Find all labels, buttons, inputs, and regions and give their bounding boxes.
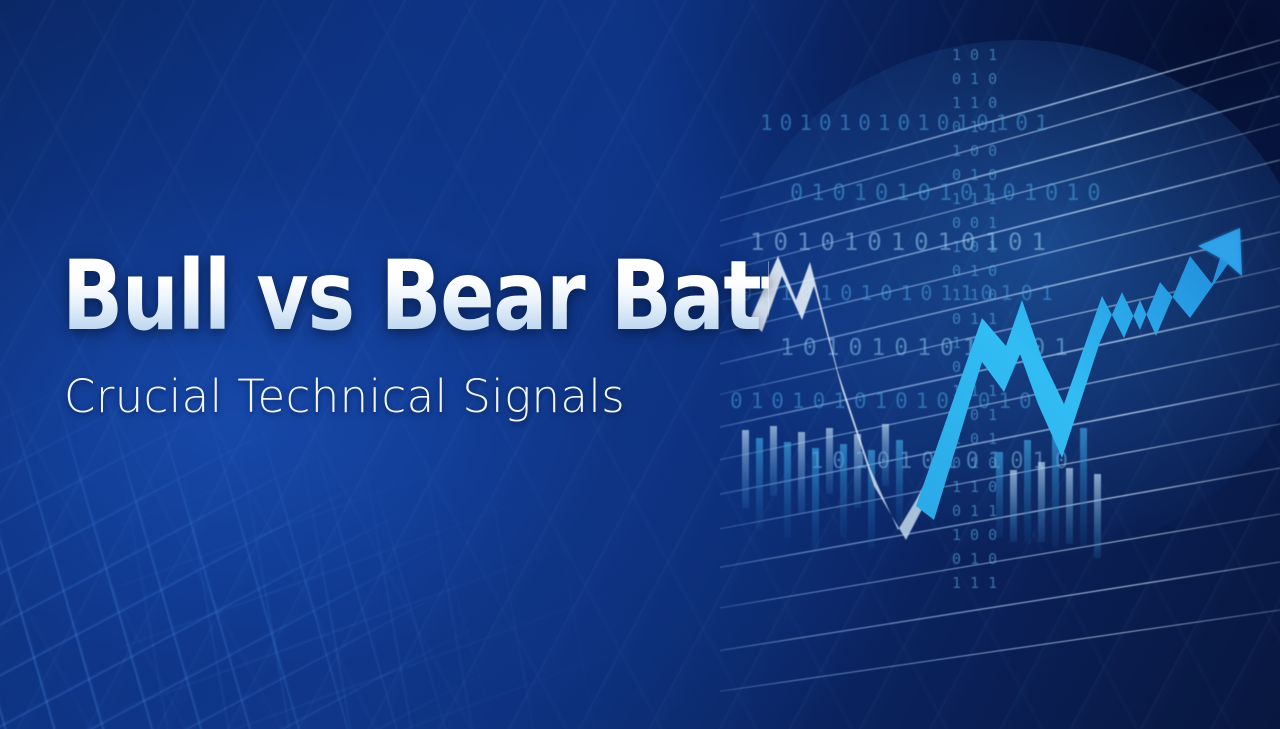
banner-root: 101010101010101 010101010101010 10101010… — [0, 0, 1280, 729]
svg-text:1 0 0: 1 0 0 — [952, 526, 997, 544]
svg-text:1 0 1: 1 0 1 — [952, 46, 997, 64]
page-title: Bull vs Bear Battle — [62, 248, 769, 344]
svg-text:0 1 1: 0 1 1 — [952, 310, 997, 328]
svg-text:0 0 1: 0 0 1 — [952, 406, 997, 424]
svg-text:1 0 0: 1 0 0 — [952, 142, 997, 160]
svg-text:0 0 1: 0 0 1 — [952, 214, 997, 232]
svg-text:0 1 0: 0 1 0 — [952, 454, 997, 472]
svg-text:1 1 0: 1 1 0 — [952, 94, 997, 112]
trend-up-arrow-icon — [916, 228, 1242, 520]
binary-column-icon: 1 0 10 1 0 1 1 00 1 1 1 0 00 1 0 1 1 10 … — [952, 46, 997, 592]
svg-text:1 0 0: 1 0 0 — [952, 334, 997, 352]
headline-block: Bull vs Bear Battle Crucial Technical Si… — [62, 248, 822, 423]
page-subtitle: Crucial Technical Signals — [64, 370, 822, 423]
svg-text:0 1 0: 0 1 0 — [952, 358, 997, 376]
svg-text:0 1 0: 0 1 0 — [952, 166, 997, 184]
svg-text:0 1 1: 0 1 1 — [952, 502, 997, 520]
svg-text:0 1 0: 0 1 0 — [952, 262, 997, 280]
svg-text:1 1 0: 1 1 0 — [952, 286, 997, 304]
svg-text:1 0 1: 1 0 1 — [952, 430, 997, 448]
svg-text:1 1 1: 1 1 1 — [952, 190, 997, 208]
svg-text:0 1 0: 0 1 0 — [952, 550, 997, 568]
svg-text:1 1 1: 1 1 1 — [952, 574, 997, 592]
svg-text:1 0 1: 1 0 1 — [952, 238, 997, 256]
svg-text:0 1 1: 0 1 1 — [952, 118, 997, 136]
svg-text:101010101010101: 101010101010101 — [760, 111, 1055, 135]
perspective-grid-secondary-icon — [120, 430, 740, 729]
svg-text:0 1 0: 0 1 0 — [952, 70, 997, 88]
svg-text:1 1 1: 1 1 1 — [952, 382, 997, 400]
svg-text:010101010101010: 010101010101010 — [790, 181, 1109, 206]
svg-text:101010101010: 101010101010 — [810, 449, 1077, 474]
svg-text:1 1 0: 1 1 0 — [952, 478, 997, 496]
bar-chart-icon — [742, 424, 1101, 558]
